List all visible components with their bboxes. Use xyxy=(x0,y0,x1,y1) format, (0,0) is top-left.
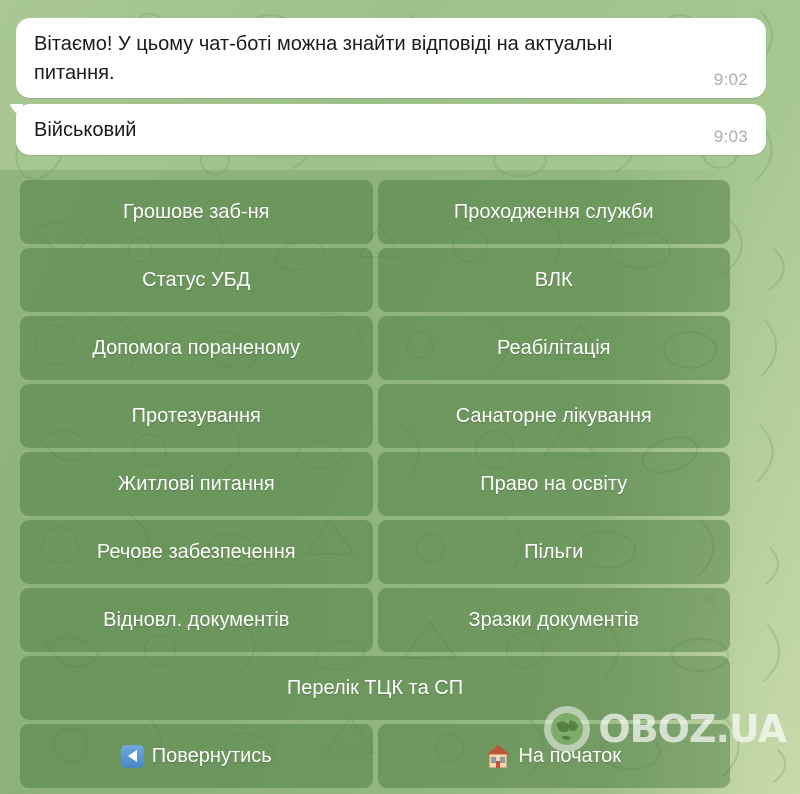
keyboard-button-label: ВЛК xyxy=(535,269,573,292)
keyboard-button-tck-list[interactable]: Перелік ТЦК та СП xyxy=(20,656,730,720)
back-arrow-icon xyxy=(121,745,144,768)
keyboard-button-money-allowance[interactable]: Грошове заб-ня xyxy=(20,180,373,244)
keyboard-button-label: Повернутись xyxy=(152,745,272,768)
message-time: 9:03 xyxy=(714,127,748,147)
message-text: Вітаємо! У цьому чат-боті можна знайти в… xyxy=(34,30,748,88)
keyboard-button-label: Перелік ТЦК та СП xyxy=(287,677,463,700)
keyboard-button-label: Проходження служби xyxy=(454,201,654,224)
keyboard-button-label: Протезування xyxy=(132,405,261,428)
keyboard-button-rehabilitation[interactable]: Реабілітація xyxy=(378,316,731,380)
keyboard-button-supplies[interactable]: Речове забезпечення xyxy=(20,520,373,584)
keyboard-button-wounded-aid[interactable]: Допомога пораненому xyxy=(20,316,373,380)
keyboard-button-label: Зразки документів xyxy=(469,609,639,632)
keyboard-button-prosthetics[interactable]: Протезування xyxy=(20,384,373,448)
keyboard-row: Житлові питання Право на освіту xyxy=(20,452,730,516)
keyboard-button-back[interactable]: Повернутись xyxy=(20,724,373,788)
message-text: Військовий xyxy=(34,116,748,145)
keyboard-button-document-samples[interactable]: Зразки документів xyxy=(378,588,731,652)
keyboard-row: Допомога пораненому Реабілітація xyxy=(20,316,730,380)
keyboard-button-ubd-status[interactable]: Статус УБД xyxy=(20,248,373,312)
keyboard-button-label: Речове забезпечення xyxy=(97,541,296,564)
keyboard-row: Повернутись На початок xyxy=(20,724,730,788)
keyboard-button-label: Допомога пораненому xyxy=(92,337,300,360)
keyboard-button-label: Грошове заб-ня xyxy=(123,201,269,224)
keyboard-button-label: Пільги xyxy=(524,541,583,564)
keyboard-button-education[interactable]: Право на освіту xyxy=(378,452,731,516)
keyboard-row: Речове забезпечення Пільги xyxy=(20,520,730,584)
message-bubble: Військовий 9:03 xyxy=(16,104,766,155)
keyboard-row: Протезування Санаторне лікування xyxy=(20,384,730,448)
reply-keyboard: Грошове заб-ня Проходження служби Статус… xyxy=(20,180,730,788)
keyboard-row: Перелік ТЦК та СП xyxy=(20,656,730,720)
keyboard-row: Статус УБД ВЛК xyxy=(20,248,730,312)
keyboard-row: Грошове заб-ня Проходження служби xyxy=(20,180,730,244)
message-time: 9:02 xyxy=(714,70,748,90)
keyboard-button-home[interactable]: На початок xyxy=(378,724,731,788)
keyboard-button-sanatorium[interactable]: Санаторне лікування xyxy=(378,384,731,448)
keyboard-button-service[interactable]: Проходження служби xyxy=(378,180,731,244)
keyboard-button-vlk[interactable]: ВЛК xyxy=(378,248,731,312)
keyboard-button-restore-documents[interactable]: Відновл. документів xyxy=(20,588,373,652)
keyboard-button-benefits[interactable]: Пільги xyxy=(378,520,731,584)
chat-screen: Вітаємо! У цьому чат-боті можна знайти в… xyxy=(0,0,800,794)
message-bubble: Вітаємо! У цьому чат-боті можна знайти в… xyxy=(16,18,766,98)
message-list: Вітаємо! У цьому чат-боті можна знайти в… xyxy=(0,0,800,161)
keyboard-button-label: На початок xyxy=(518,745,621,768)
keyboard-button-housing[interactable]: Житлові питання xyxy=(20,452,373,516)
keyboard-button-label: Право на освіту xyxy=(480,473,627,496)
keyboard-button-label: Реабілітація xyxy=(497,337,611,360)
keyboard-button-label: Відновл. документів xyxy=(103,609,289,632)
house-icon xyxy=(486,745,510,768)
keyboard-button-label: Статус УБД xyxy=(142,269,250,292)
keyboard-row: Відновл. документів Зразки документів xyxy=(20,588,730,652)
keyboard-button-label: Санаторне лікування xyxy=(456,405,652,428)
keyboard-button-label: Житлові питання xyxy=(118,473,275,496)
